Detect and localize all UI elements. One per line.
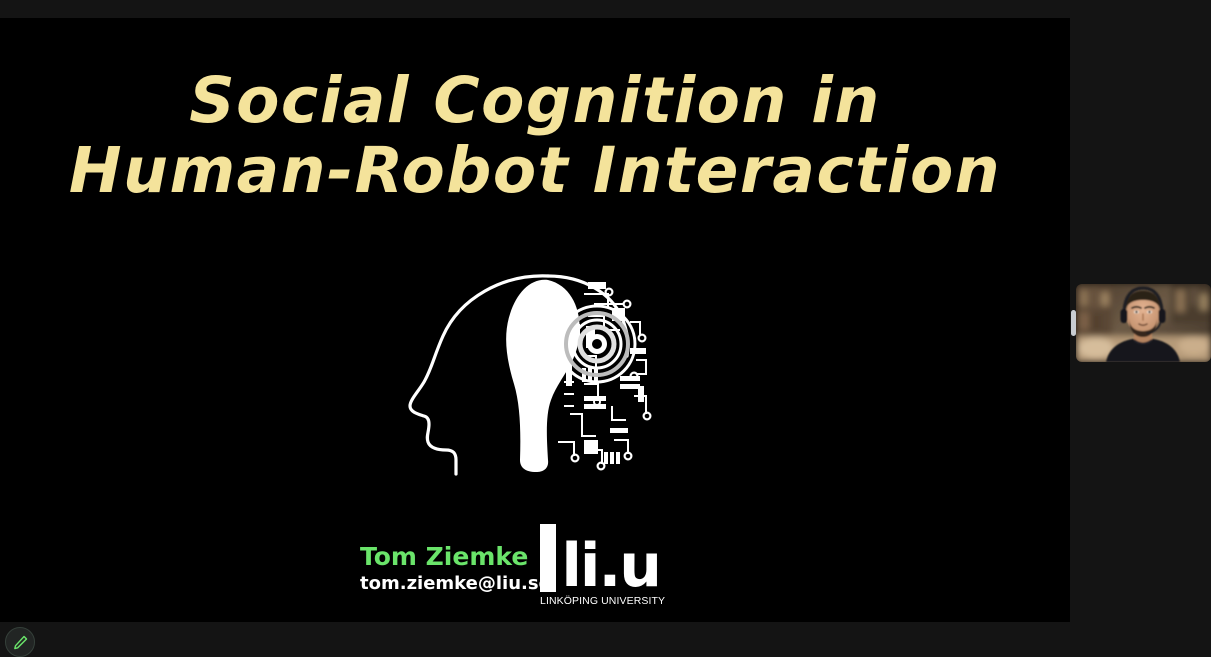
liu-logo-letters: li.u: [561, 540, 660, 592]
slide-title-line-2: Human-Robot Interaction: [0, 136, 1070, 206]
presenter-email: tom.ziemke@liu.se: [360, 572, 525, 596]
page-title: Social Cognition in Human-Robot Interact…: [0, 66, 1070, 206]
presenter-video-tile[interactable]: [1076, 284, 1211, 362]
annotate-button[interactable]: [5, 627, 35, 657]
liu-logo: li.u LINKÖPING UNIVERSITY: [540, 524, 660, 614]
presenter-name: Tom Ziemke: [360, 542, 525, 572]
slide-canvas[interactable]: Social Cognition in Human-Robot Interact…: [0, 18, 1070, 622]
presenter-video-panel[interactable]: [1068, 282, 1211, 364]
human-head-circuit-icon: [398, 264, 660, 482]
slide-title-line-1: Social Cognition in: [0, 66, 1070, 136]
liu-wordmark: li.u: [540, 524, 660, 592]
presenter-info: Tom Ziemke tom.ziemke@liu.se: [360, 542, 525, 596]
liu-logo-tagline: LINKÖPING UNIVERSITY: [540, 595, 660, 607]
presentation-app-window: Social Cognition in Human-Robot Interact…: [0, 0, 1211, 649]
liu-logo-bar: [540, 524, 556, 592]
